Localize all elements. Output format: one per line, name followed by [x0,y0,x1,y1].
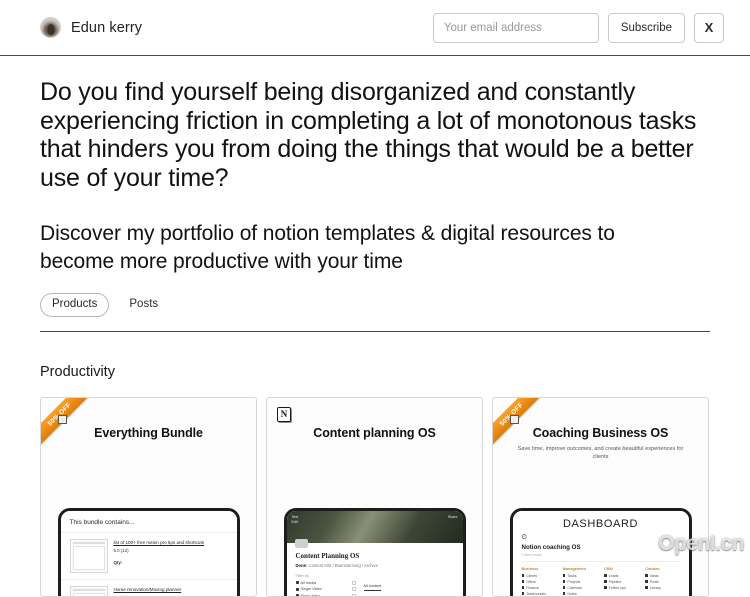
preview-column-item: Posts [645,580,679,584]
preview-dashboard-title: DASHBOARD [513,511,689,530]
section-title-productivity: Productivity [40,364,710,380]
header-actions: Subscribe X [433,13,724,43]
preview-column-item: Library [645,586,679,590]
product-preview-mockup: DASHBOARD ⏲ Notion coaching OS 1 item in… [510,508,692,597]
preview-column-item: Tasks [563,574,597,578]
product-card-grid: 50% OFF Everything Bundle This bundle co… [40,397,710,597]
clock-emoji-icon: ⏲ [513,530,689,542]
product-card-everything-bundle[interactable]: 50% OFF Everything Bundle This bundle co… [40,397,257,597]
product-title: Coaching Business OS [507,426,694,441]
tab-products[interactable]: Products [40,293,109,317]
ribbon-fold-icon [510,415,519,424]
preview-breadcrumb-value: Content Kits / Brainstorming / Archive [309,563,378,568]
preview-column-item: Projects [563,580,597,584]
product-preview-mockup: This bundle contains... list of 100+ fre… [58,508,240,597]
product-card-coaching-business-os[interactable]: 50% OFF Coaching Business OS Save time, … [492,397,709,597]
preview-column-heading: Content [645,567,679,571]
hero-section: Do you find yourself being disorganized … [0,56,750,332]
preview-item-row: list of 100+ free notion pro tips and sh… [61,532,237,573]
site-header: Edun kerry Subscribe X [0,0,750,56]
preview-thumbnail [70,586,108,597]
preview-item-rating: 5.0 (9) [114,595,229,597]
preview-page-title: Notion coaching OS [513,542,689,551]
preview-item-row: Home renovation/Moving planner 5.0 (9) H… [61,579,237,597]
preview-tab-all-content: All content [364,584,382,591]
preview-column-heading: Business [522,567,556,571]
preview-item-link: list of 100+ free notion pro tips and sh… [114,540,229,545]
preview-title: Content Planning OS [296,552,454,560]
preview-item-link: Home renovation/Moving planner [114,587,229,592]
preview-column: CRM Leads Pipeline Follow ups [604,567,638,597]
preview-cover-image: TextEdit Share [287,511,463,543]
section-divider [40,331,710,332]
preview-column-item: Testimonials [522,592,556,596]
preview-item-rating: 5.0 (12) [114,548,229,553]
preview-page-icon [295,539,308,548]
preview-item-qty: Qty: [114,560,229,565]
email-field[interactable] [433,13,599,43]
content-tabs: Products Posts [40,293,710,317]
subscribe-button[interactable]: Subscribe [608,13,685,43]
preview-column-item: Calendar [563,586,597,590]
preview-heading: This bundle contains... [61,511,237,526]
preview-page-subtitle: 1 item inside [513,551,689,557]
x-twitter-icon-button[interactable]: X [694,13,724,43]
preview-thumbnail [70,539,108,573]
product-preview-mockup: TextEdit Share Content Planning OS Done:… [284,508,466,597]
user-avatar-photo [40,17,61,38]
preview-column: Management Tasks Projects Calendar Notes [563,567,597,597]
product-title: Content planning OS [281,426,468,441]
tab-posts[interactable]: Posts [117,293,170,317]
preview-column-item: Offers [522,580,556,584]
preview-column: Business Clients Offers Finance Testimon… [522,567,556,597]
preview-column-heading: Management [563,567,597,571]
preview-column: Content Ideas Posts Library [645,567,679,597]
preview-filter-list: Filter by All media Single Video Short v… [296,574,356,597]
product-title: Everything Bundle [55,426,242,441]
preview-column-item: Pipeline [604,580,638,584]
preview-column-item: Follow ups [604,586,638,590]
product-card-content-planning-os[interactable]: N Content planning OS TextEdit Share Con… [266,397,483,597]
preview-column-heading: CRM [604,567,638,571]
preview-list-label: Filter by [296,574,356,578]
page-subheadline: Discover my portfolio of notion template… [40,220,640,276]
page-headline: Do you find yourself being disorganized … [40,78,705,192]
notion-logo-icon: N [277,407,291,422]
preview-list-item: Short video [296,594,320,597]
preview-column-item: Leads [604,574,638,578]
preview-list-item: Single Video [296,587,322,591]
preview-column-item: Finance [522,586,556,590]
ribbon-fold-icon [58,415,67,424]
preview-column-item: Notes [563,592,597,596]
product-subtitle: Save time, improve outcomes, and create … [515,445,686,461]
preview-column-item: Ideas [645,574,679,578]
preview-column-item: Clients [522,574,556,578]
brand[interactable]: Edun kerry [40,17,142,38]
brand-name: Edun kerry [71,20,142,36]
preview-breadcrumb-label: Done: [296,563,308,568]
preview-list-item: All media [296,581,317,585]
